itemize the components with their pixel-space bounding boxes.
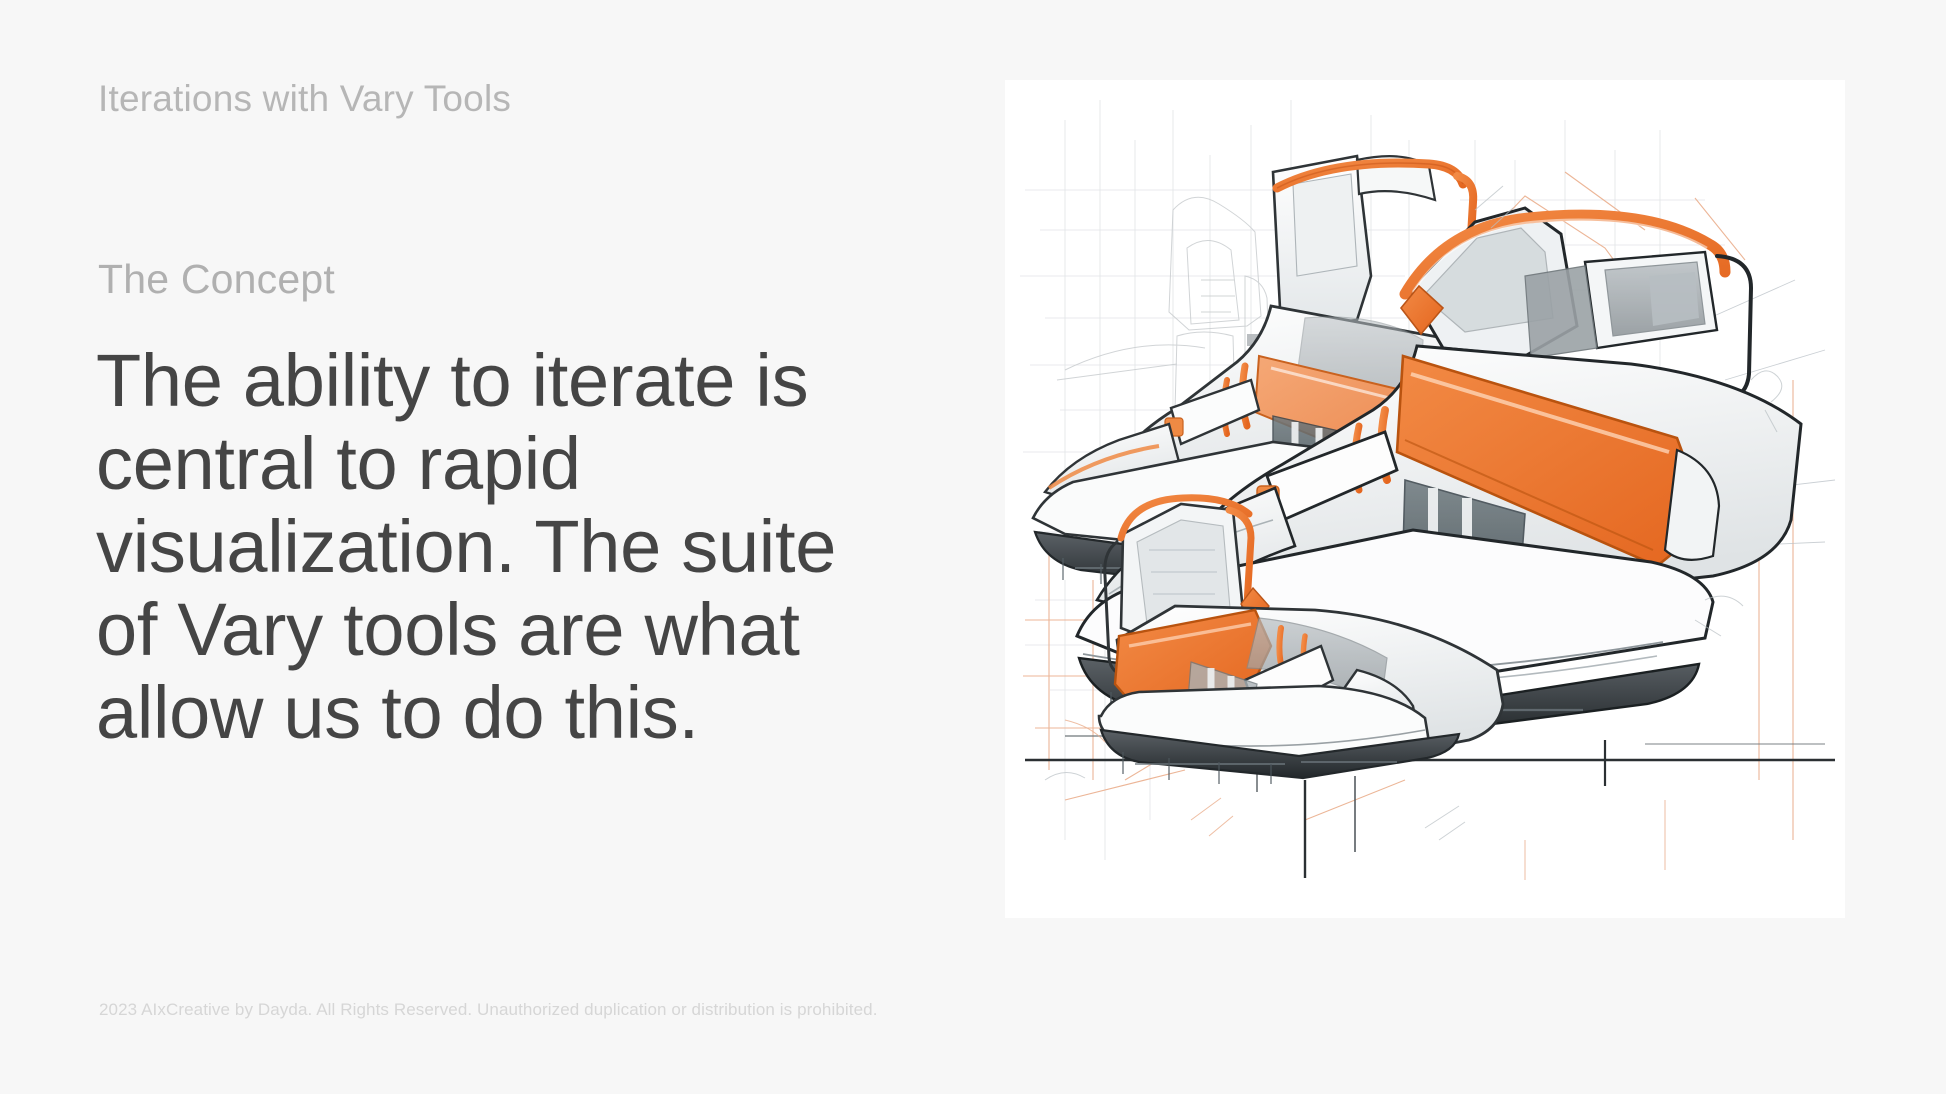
copyright-footer: 2023 AIxCreative by Dayda. All Rights Re…	[99, 1000, 878, 1020]
headline-text: The ability to iterate is central to rap…	[96, 340, 886, 754]
slide-title: Iterations with Vary Tools	[98, 78, 511, 120]
section-label: The Concept	[98, 256, 335, 303]
sketch-image-panel	[1005, 80, 1845, 918]
sneaker-concept-sketch	[1005, 80, 1845, 918]
text-column: Iterations with Vary Tools The Concept T…	[0, 0, 1005, 1094]
slide-root: Iterations with Vary Tools The Concept T…	[0, 0, 1946, 1094]
